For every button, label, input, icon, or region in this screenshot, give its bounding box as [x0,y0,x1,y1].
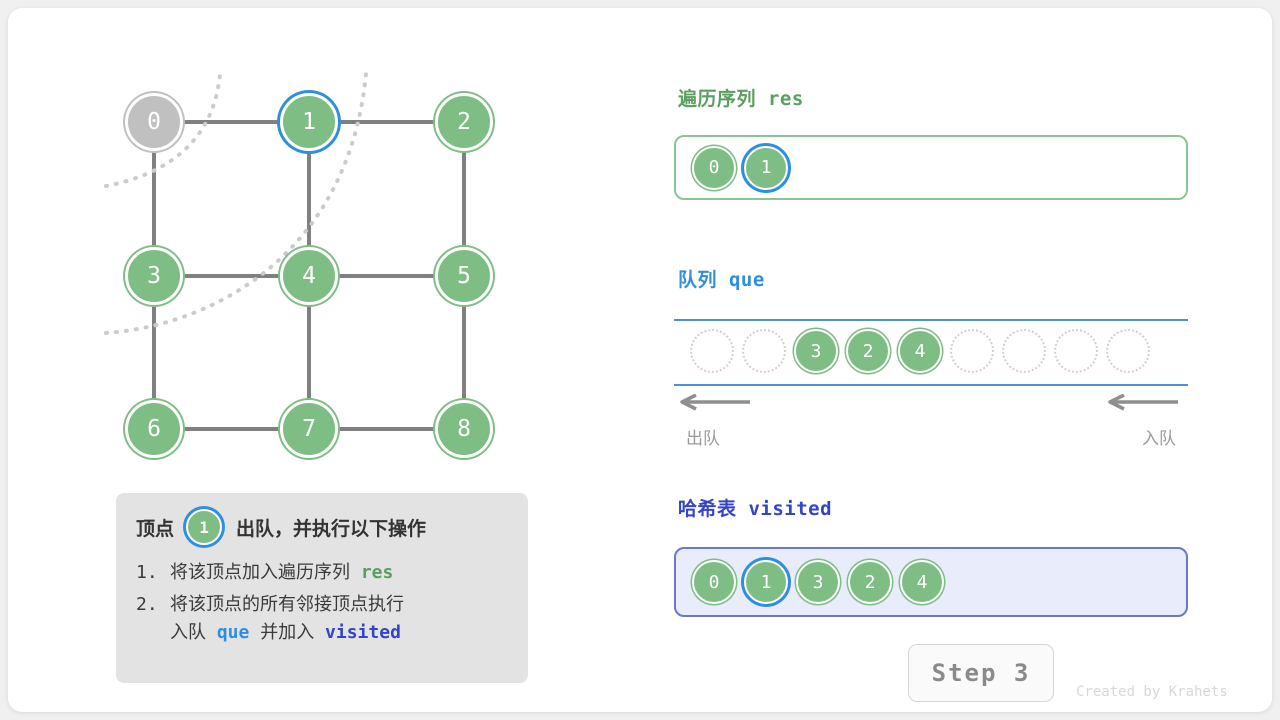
queue-slots: 324 [690,329,1150,373]
explanation-item-2-number: 2. [136,591,170,647]
explanation-item-2-text-c: 并加入 [260,622,314,643]
res-box: 01 [674,135,1188,200]
explanation-item-1: 1. 将该顶点加入遍历序列 res [136,559,508,587]
explanation-item-2-keyword-visited: visited [325,622,401,643]
queue-top-rule [674,319,1188,321]
visited-item-3: 2 [848,560,892,604]
res-title: 遍历序列 res [678,84,804,111]
visited-item-1: 1 [744,560,788,604]
queue-slot-1 [742,329,786,373]
graph-node-5[interactable]: 5 [435,247,493,305]
main-card: 012345678 顶点 1 出队，并执行以下操作 1. 将该顶点加入遍历序列 … [8,8,1272,712]
step-badge: Step 3 [908,644,1054,702]
explanation-item-2: 2. 将该顶点的所有邻接顶点执行 入队 que 并加入 visited [136,591,508,647]
visited-title: 哈希表 visited [678,494,832,521]
explanation-item-1-text: 将该顶点加入遍历序列 [170,562,350,583]
visited-items: 01324 [676,549,1186,615]
visited-box: 01324 [674,547,1188,617]
graph-node-3[interactable]: 3 [125,247,183,305]
dequeue-label: 出队 [686,424,720,449]
graph-node-7[interactable]: 7 [280,400,338,458]
explanation-item-2-keyword-que: que [217,622,250,643]
explanation-heading: 顶点 1 出队，并执行以下操作 [136,509,508,545]
queue-slot-2: 3 [794,329,838,373]
queue-bottom-rule [674,384,1188,386]
explanation-suffix: 出队，并执行以下操作 [236,514,426,541]
credit-label: Created by Krahets [1076,684,1228,700]
queue-slot-0 [690,329,734,373]
explanation-item-1-keyword: res [361,562,394,583]
explanation-item-2-text: 将该顶点的所有邻接顶点执行 [170,594,404,615]
visited-item-0: 0 [692,560,736,604]
graph-node-1[interactable]: 1 [280,93,338,151]
visited-item-2: 3 [796,560,840,604]
explanation-box: 顶点 1 出队，并执行以下操作 1. 将该顶点加入遍历序列 res 2. 将该顶… [116,493,528,683]
que-title: 队列 que [678,265,765,292]
graph-panel: 012345678 [8,8,628,488]
queue-slot-3: 2 [846,329,890,373]
graph-node-4[interactable]: 4 [280,247,338,305]
explanation-prefix: 顶点 [136,514,174,541]
explanation-item-1-number: 1. [136,559,170,587]
queue-arrows-svg [674,394,1188,412]
explanation-node-chip: 1 [186,509,222,545]
queue-slot-5 [950,329,994,373]
res-item-0: 0 [692,146,736,190]
visited-item-4: 4 [900,560,944,604]
queue-slot-6 [1002,329,1046,373]
queue-slot-8 [1106,329,1150,373]
graph-node-2[interactable]: 2 [435,93,493,151]
queue-slot-7 [1054,329,1098,373]
graph-node-0[interactable]: 0 [125,93,183,151]
res-item-1: 1 [744,146,788,190]
queue-slot-4: 4 [898,329,942,373]
explanation-item-2-text-b: 入队 [170,622,206,643]
enqueue-label: 入队 [1142,424,1176,449]
graph-node-8[interactable]: 8 [435,400,493,458]
graph-node-6[interactable]: 6 [125,400,183,458]
res-items: 01 [676,137,1186,198]
